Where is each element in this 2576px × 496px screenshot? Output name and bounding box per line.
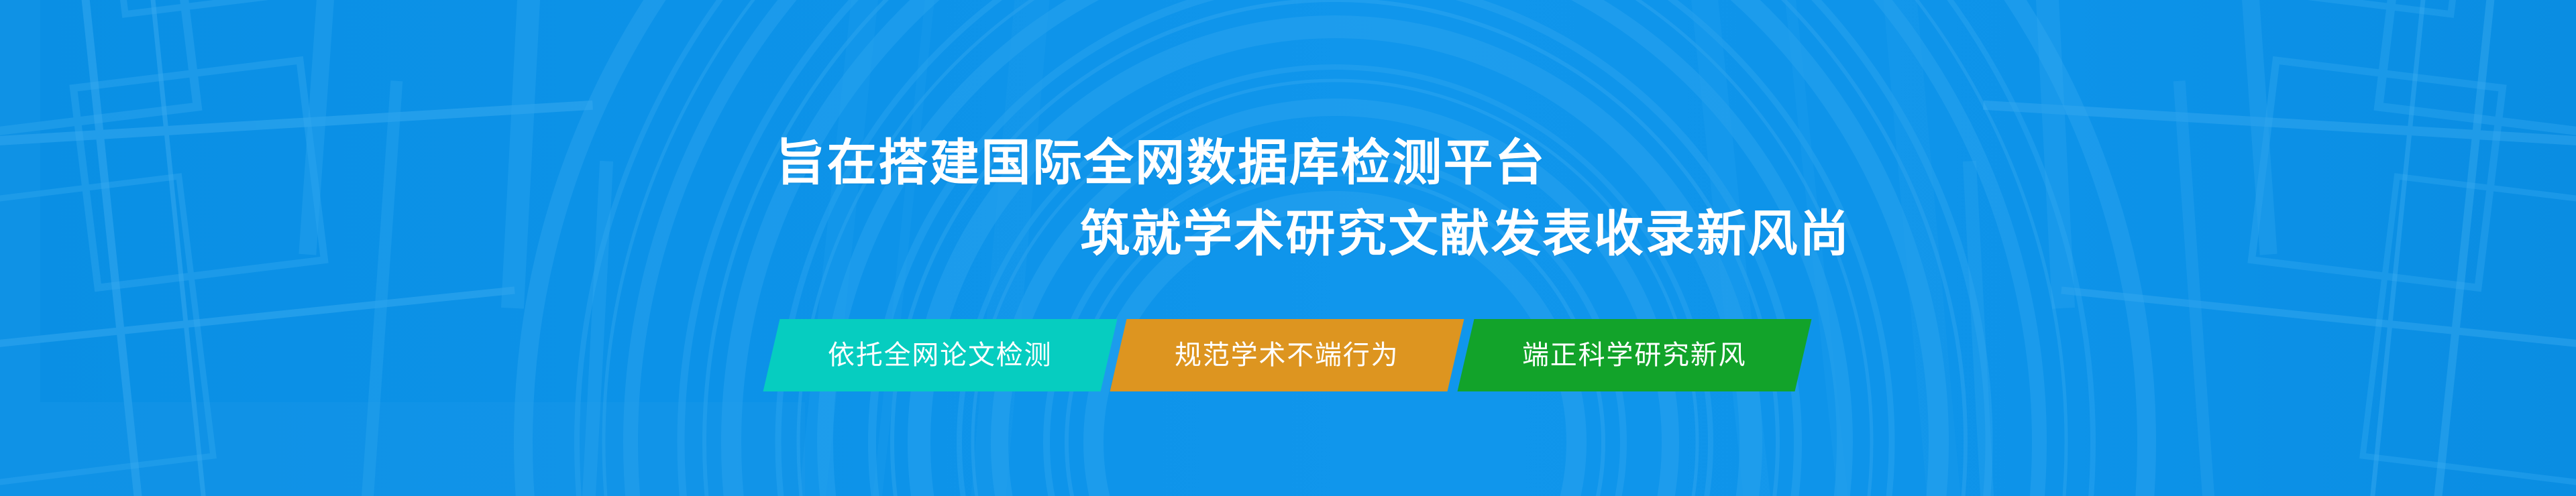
headline-line-2: 筑就学术研究文献发表收录新风尚: [1080, 209, 1851, 259]
headline-line-1: 旨在搭建国际全网数据库检测平台: [775, 138, 1546, 188]
feature-tab-research-ethos[interactable]: 端正科学研究新风: [1457, 319, 1811, 391]
feature-tab-misconduct-regulation[interactable]: 规范学术不端行为: [1110, 319, 1464, 391]
feature-tab-paper-detection[interactable]: 依托全网论文检测: [763, 319, 1118, 391]
feature-tab-strip: 依托全网论文检测 规范学术不端行为 端正科学研究新风: [757, 319, 1803, 393]
hero-banner: 旨在搭建国际全网数据库检测平台 筑就学术研究文献发表收录新风尚 依托全网论文检测…: [0, 0, 2576, 496]
feature-tab-label: 规范学术不端行为: [1175, 342, 1399, 369]
feature-tab-label: 依托全网论文检测: [828, 342, 1052, 369]
feature-tab-label: 端正科学研究新风: [1522, 342, 1746, 369]
